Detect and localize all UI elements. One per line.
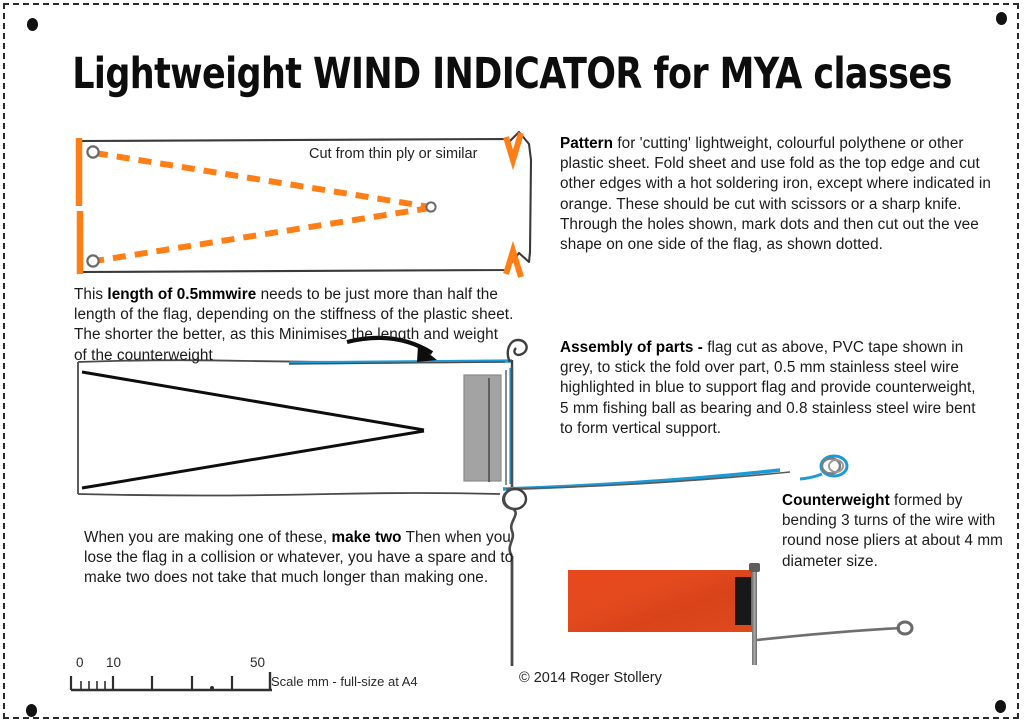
- photo-mast-wire: [752, 565, 757, 665]
- photo-mast-cap: [749, 563, 760, 572]
- counterweight-note: Counterweight formed by bending 3 turns …: [782, 491, 1007, 572]
- page-title: Lightweight WIND INDICATOR for MYA class…: [0, 50, 1024, 99]
- pattern-note-heading: Pattern: [560, 135, 613, 152]
- scale-tick-label-50: 50: [250, 655, 265, 670]
- orange-vee-notch-top: [506, 133, 521, 160]
- registration-dot-top-left: [27, 18, 38, 31]
- wire-length-note-prefix: This: [74, 286, 107, 303]
- marking-hole-bottom: [87, 255, 98, 266]
- marking-hole-apex: [426, 202, 435, 211]
- diagram-page: Lightweight WIND INDICATOR for MYA class…: [0, 0, 1024, 724]
- finished-flag-photo: [568, 570, 753, 632]
- wire-length-note-heading: length of 0.5mmwire: [107, 286, 256, 303]
- counterweight-coil: [800, 456, 847, 479]
- assembly-note: Assembly of parts - flag cut as above, P…: [560, 338, 980, 439]
- copyright-notice: © 2014 Roger Stollery: [519, 670, 662, 686]
- photo-black-tape: [735, 577, 751, 625]
- wire-length-note: This length of 0.5mmwire needs to be jus…: [74, 285, 514, 366]
- make-two-note-prefix: When you are making one of these,: [84, 529, 331, 546]
- pattern-note: Pattern for 'cutting' lightweight, colou…: [560, 134, 992, 255]
- registration-dot-top-right: [996, 12, 1007, 25]
- photo-counterweight-wire: [757, 622, 912, 640]
- registration-dot-bottom-left: [26, 704, 37, 717]
- scale-bar: [71, 672, 272, 690]
- pattern-ply-label: Cut from thin ply or similar: [309, 146, 477, 162]
- pattern-note-body: for 'cutting' lightweight, colourful pol…: [560, 135, 991, 253]
- scale-tick-label-10: 10: [106, 655, 121, 670]
- dotted-vee-cut-line: [95, 153, 430, 261]
- registration-dot-bottom-right: [995, 700, 1006, 713]
- scale-tick-label-0: 0: [76, 655, 84, 670]
- orange-vee-notch-bottom: [506, 251, 521, 277]
- pvc-tape-rectangle: [464, 375, 501, 482]
- make-two-note-heading: make two: [331, 529, 401, 546]
- scale-caption: Scale mm - full-size at A4: [271, 674, 418, 689]
- orange-left-cut-edge: [79, 138, 80, 274]
- counterweight-note-heading: Counterweight: [782, 492, 890, 509]
- assembly-note-heading: Assembly of parts -: [560, 339, 703, 356]
- assembly-flag-outline: [78, 360, 500, 495]
- assembly-vee-cut: [82, 372, 424, 488]
- fishing-ball-bearing: [504, 489, 526, 509]
- vertical-support-wire: [503, 366, 526, 666]
- marking-hole-top: [87, 146, 98, 157]
- make-two-note: When you are making one of these, make t…: [84, 528, 524, 589]
